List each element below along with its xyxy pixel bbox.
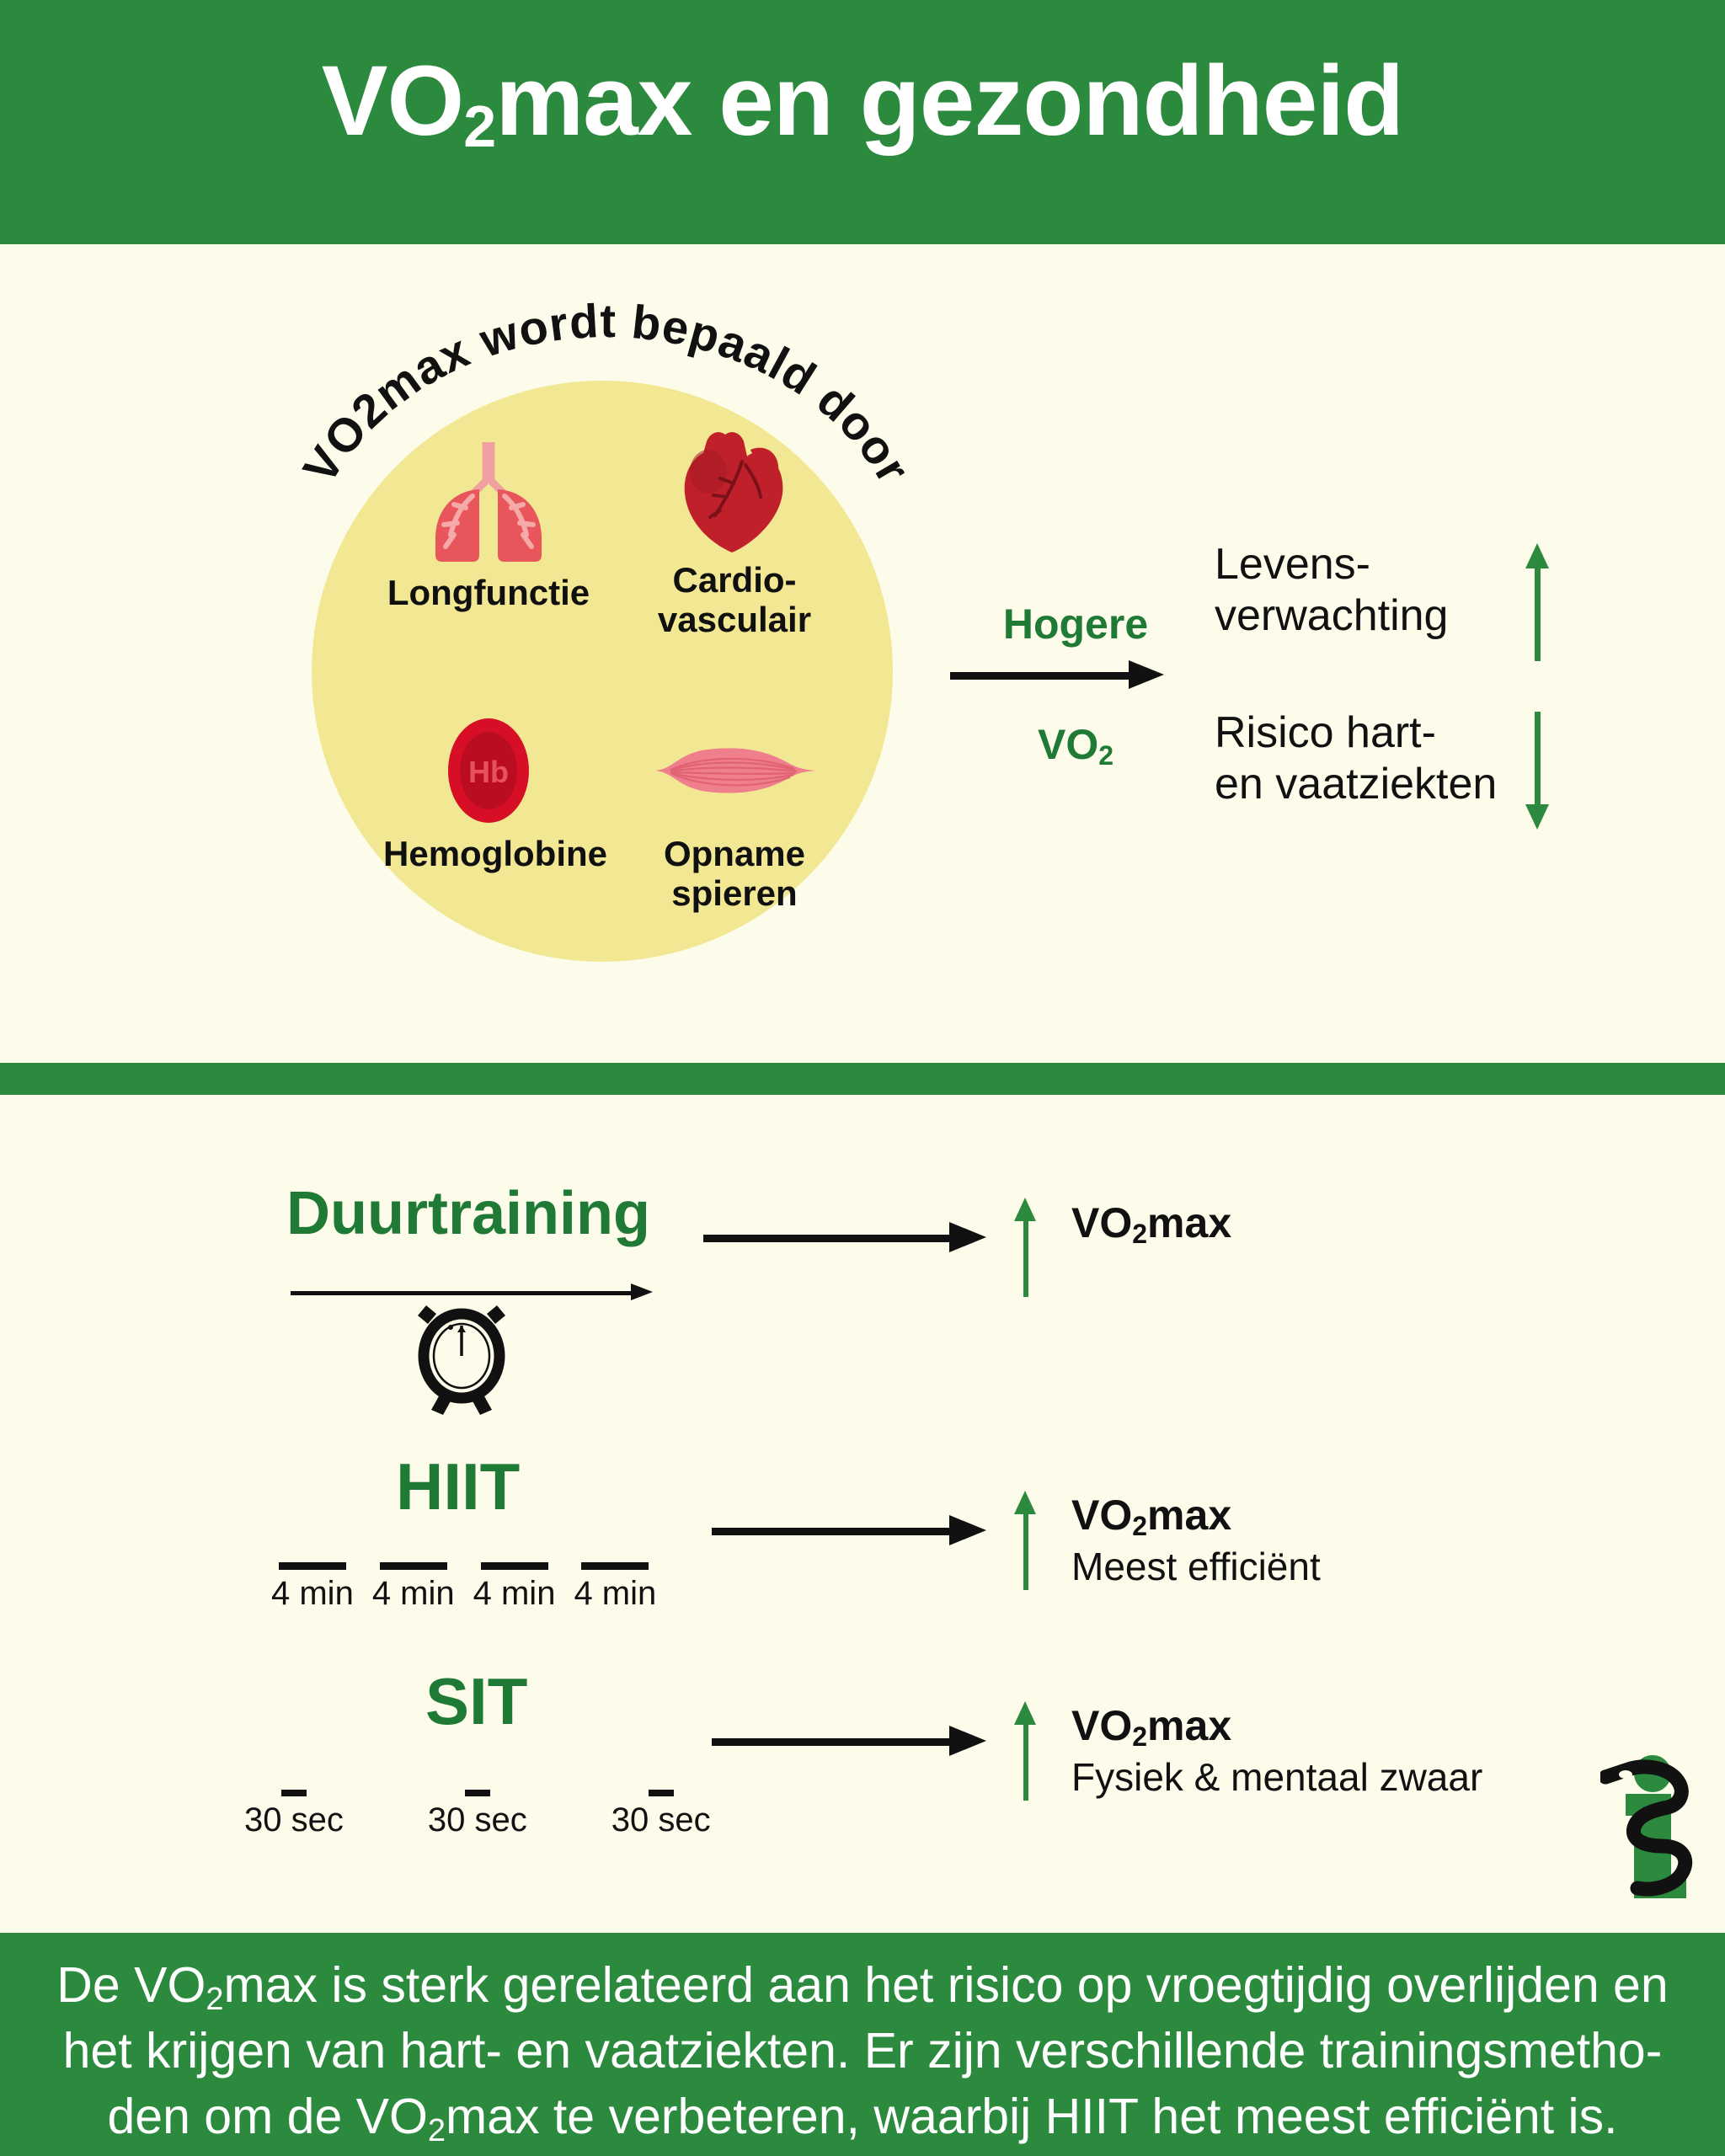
cause-label-higher: Hogere bbox=[979, 600, 1172, 648]
result-label: VO2max bbox=[1071, 1492, 1321, 1539]
determinant-muscle: Opnamespieren bbox=[625, 707, 844, 913]
muscle-icon bbox=[625, 707, 844, 834]
result-note: Fysiek & mentaal zwaar bbox=[1071, 1754, 1482, 1800]
title-subscript: 2 bbox=[463, 93, 495, 159]
determinant-lungs: Longfunctie bbox=[383, 425, 594, 612]
interval-bar bbox=[649, 1790, 674, 1796]
arrow-down-icon bbox=[1520, 712, 1554, 830]
interval-bar bbox=[465, 1790, 490, 1796]
footer-summary: De VO2max is sterk gerelateerd aan het r… bbox=[25, 1953, 1700, 2150]
page-title: VO2max en gezondheid bbox=[0, 44, 1725, 158]
sit-result: VO2max Fysiek & mentaal zwaar bbox=[1071, 1703, 1482, 1800]
interval-block: 30 sec bbox=[428, 1790, 527, 1839]
hiit-interval-timeline: 4 min 4 min 4 min 4 min bbox=[271, 1562, 656, 1613]
interval-bar bbox=[481, 1562, 548, 1570]
header-banner: VO2max en gezondheid bbox=[0, 0, 1725, 244]
interval-label: 30 sec bbox=[611, 1801, 711, 1839]
interval-label: 30 sec bbox=[244, 1801, 344, 1839]
training-title-duurtraining: Duurtraining bbox=[286, 1179, 650, 1248]
cause-label-vo2: VO2 bbox=[979, 720, 1172, 769]
interval-block: 4 min bbox=[574, 1562, 656, 1613]
determinant-label: Longfunctie bbox=[383, 573, 594, 612]
interval-label: 4 min bbox=[473, 1575, 556, 1613]
result-label: VO2max bbox=[1071, 1200, 1231, 1246]
interval-block: 4 min bbox=[473, 1562, 556, 1613]
interval-block: 30 sec bbox=[244, 1790, 344, 1839]
arrow-up-icon bbox=[1011, 1198, 1041, 1297]
result-label: VO2max bbox=[1071, 1703, 1482, 1749]
determinant-label: Cardio-vasculair bbox=[625, 560, 844, 639]
determinant-label: Hemoglobine bbox=[383, 834, 594, 873]
interval-label: 4 min bbox=[574, 1575, 656, 1613]
infographic-page: VO2max en gezondheid VO2max wordt bepaal… bbox=[0, 0, 1725, 2156]
cause-effect-arrow-icon bbox=[950, 670, 1169, 680]
determinant-heart: Cardio-vasculair bbox=[625, 413, 844, 639]
footer-banner: De VO2max is sterk gerelateerd aan het r… bbox=[0, 1933, 1725, 2156]
section-divider bbox=[0, 1063, 1725, 1095]
outcome-life-expectancy: Levens-verwachting bbox=[1215, 539, 1568, 643]
lungs-icon bbox=[383, 425, 594, 573]
interval-bar bbox=[281, 1790, 307, 1796]
asclepius-rod-logo bbox=[1600, 1752, 1706, 1912]
interval-block: 4 min bbox=[372, 1562, 455, 1613]
continuous-timeline-arrow-icon bbox=[291, 1289, 653, 1297]
red-blood-cell-icon: Hb bbox=[383, 707, 594, 834]
interval-label: 4 min bbox=[372, 1575, 455, 1613]
interval-bar bbox=[279, 1562, 346, 1570]
duurtraining-result-arrow-icon bbox=[703, 1231, 990, 1243]
training-title-hiit: HIIT bbox=[396, 1449, 520, 1525]
hiit-result-arrow-icon bbox=[712, 1524, 990, 1536]
determinant-label: Opnamespieren bbox=[625, 834, 844, 913]
training-title-sit: SIT bbox=[425, 1663, 527, 1740]
hiit-result: VO2max Meest efficiënt bbox=[1071, 1492, 1321, 1589]
duurtraining-result: VO2max bbox=[1071, 1200, 1231, 1246]
interval-label: 30 sec bbox=[428, 1801, 527, 1839]
interval-bar bbox=[380, 1562, 447, 1570]
heart-icon bbox=[625, 413, 844, 560]
sit-interval-timeline: 30 sec 30 sec 30 sec bbox=[244, 1790, 711, 1839]
interval-bar bbox=[581, 1562, 649, 1570]
arrow-up-icon bbox=[1520, 543, 1554, 661]
hb-label: Hb bbox=[468, 755, 509, 789]
determinant-hemoglobin: Hb Hemoglobine bbox=[383, 707, 594, 873]
alarm-clock-icon bbox=[411, 1304, 512, 1415]
arrow-up-icon bbox=[1011, 1701, 1041, 1801]
interval-block: 30 sec bbox=[611, 1790, 711, 1839]
sit-result-arrow-icon bbox=[712, 1735, 990, 1747]
interval-block: 4 min bbox=[271, 1562, 354, 1613]
interval-label: 4 min bbox=[271, 1575, 354, 1613]
arrow-up-icon bbox=[1011, 1491, 1041, 1590]
result-note: Meest efficiënt bbox=[1071, 1544, 1321, 1589]
